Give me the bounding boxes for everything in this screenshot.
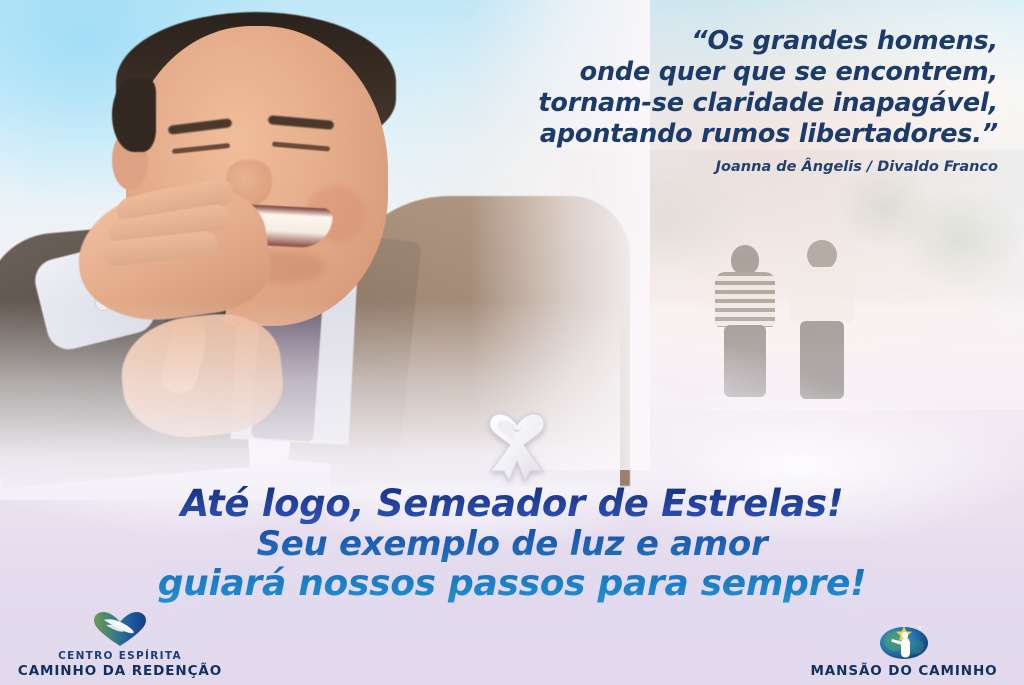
logo-right-line-1: MANSÃO DO CAMINHO (794, 663, 1014, 679)
heart-hands-icon (93, 611, 147, 647)
white-ribbon-icon (482, 405, 552, 483)
quote-attribution: Joanna de Ângelis / Divaldo Franco (438, 159, 998, 175)
headline-line-3: guiará nossos passos para sempre! (0, 564, 1024, 604)
quote-line-3: tornam-se claridade inapagável, (438, 88, 998, 119)
quote-line-2: onde quer que se encontrem, (438, 57, 998, 88)
quote-line-4: apontando rumos libertadores.” (438, 119, 998, 150)
quote-block: “Os grandes homens, onde quer que se enc… (438, 26, 998, 175)
memorial-poster: “Os grandes homens, onde quer que se enc… (0, 0, 1024, 685)
headline-block: Até logo, Semeador de Estrelas! Seu exem… (0, 484, 1024, 604)
logo-centro-espirita: CENTRO ESPÍRITA CAMINHO DA REDENÇÃO (10, 611, 230, 679)
headline-line-2: Seu exemplo de luz e amor (0, 524, 1024, 564)
logo-left-line-1: CENTRO ESPÍRITA (10, 650, 230, 663)
headline-line-1: Até logo, Semeador de Estrelas! (0, 484, 1024, 524)
quote-line-1: “Os grandes homens, (438, 26, 998, 57)
logo-mansao-do-caminho: MANSÃO DO CAMINHO (794, 622, 1014, 679)
globe-figure-star-icon (879, 622, 929, 660)
logo-left-line-2: CAMINHO DA REDENÇÃO (10, 663, 230, 679)
